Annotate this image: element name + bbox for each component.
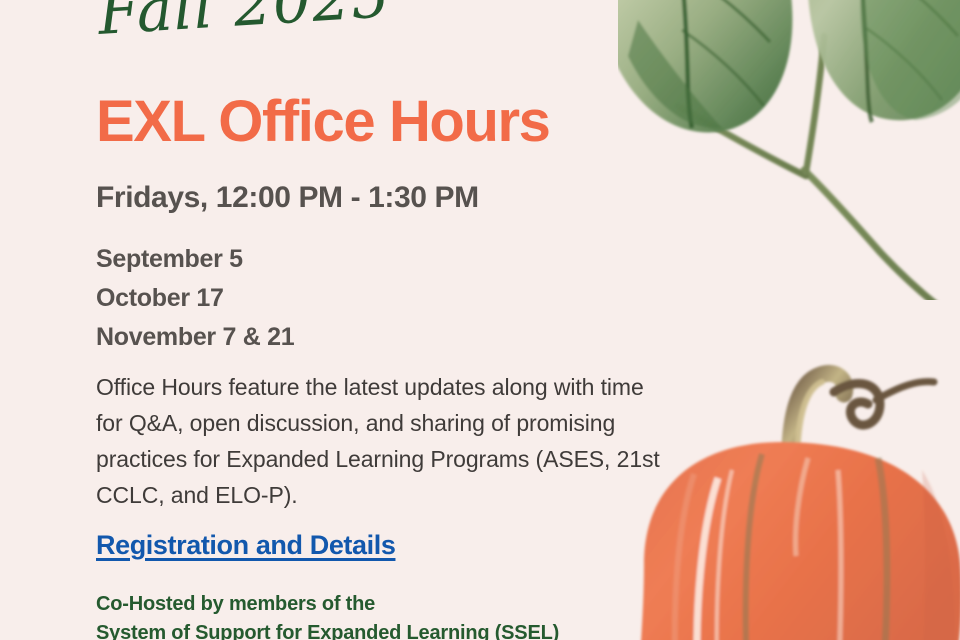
season-script-heading: Fall 2025 [96,0,392,44]
list-item: October 17 [96,279,294,318]
registration-and-details-link[interactable]: Registration and Details [96,530,395,561]
list-item: November 7 & 21 [96,318,294,357]
list-item: System of Support for Expanded Learning … [96,619,559,640]
schedule-time-heading: Fridays, 12:00 PM - 1:30 PM [96,181,479,215]
list-item: Co-Hosted by members of the [96,590,559,619]
description-paragraph: Office Hours feature the latest updates … [96,369,676,513]
session-date-list: September 5 October 17 November 7 & 21 [96,240,294,357]
list-item: September 5 [96,240,294,279]
page-title: EXL Office Hours [96,92,550,153]
fall-office-hours-flyer: Fall 2025 EXL Office Hours Fridays, 12:0… [0,0,960,640]
co-host-credit: Co-Hosted by members of the System of Su… [96,590,559,640]
watercolor-leaves-illustration [618,0,960,300]
